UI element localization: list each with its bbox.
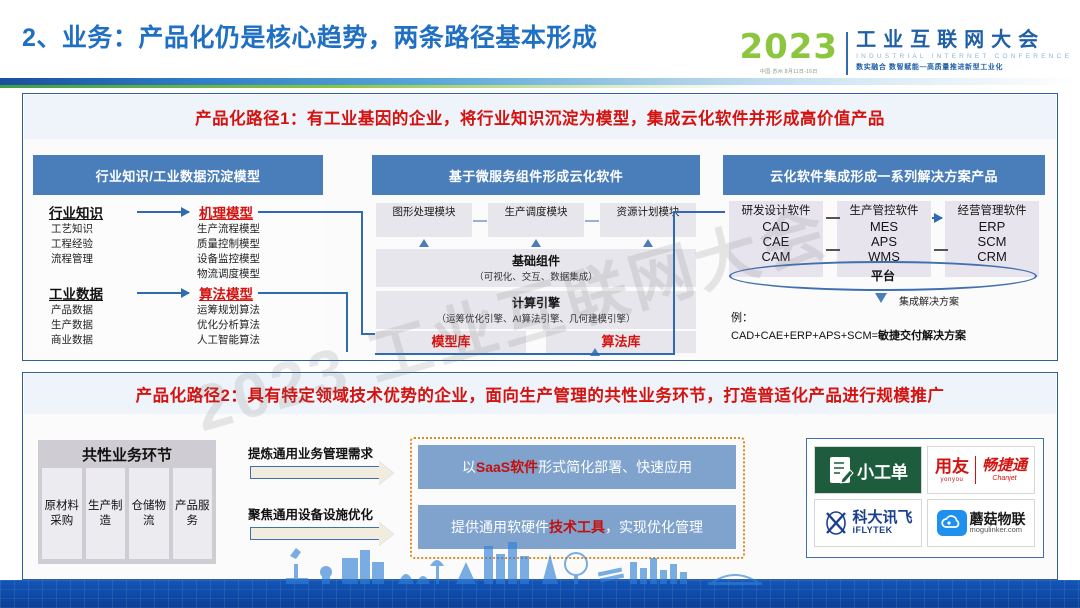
logo-chinese-name: 工业互联网大会 [856,30,1072,51]
industry-data-label: 工业数据 [49,283,103,303]
link-algo-vertical [346,292,348,352]
message-tools-pre: 提供通用软硬件 [451,518,549,537]
vendor-logo-chanjet-label: 畅捷通 [982,458,1027,473]
logo-year-subtitle: 中国·苏州 8月11日-16日 [739,68,838,75]
path2-heading-bar: 产品化路径2：具有特定领域技术优势的企业，面向生产管理的共性业务环节，打造普适化… [24,374,1056,414]
vendor-logo-divider [975,456,976,484]
mechanism-model-items: 生产流程模型 质量控制模型 设备监控模型 物流调度模型 [197,222,260,282]
common-business-links-box: 共性业务环节 原材料采购 生产制造 仓储物流 产品服务 [38,440,216,564]
arrow-data-to-algo [137,292,189,294]
software-mfg-item-1: MES [837,219,931,234]
algorithm-model-items: 运筹规划算法 优化分析算法 人工智能算法 [197,303,260,348]
slide: 2、业务：产品化仍是核心趋势，两条路径基本形成 2023 中国·苏州 8月11日… [0,0,1080,608]
algorithm-model-label: 算法模型 [199,283,253,303]
col1-body: 行业知识 工艺知识 工程经验 流程管理 机理模型 生产流程模型 质量控制模型 设… [33,200,323,352]
vendor-logo-yonyou-sub: yonyou [935,477,969,483]
common-business-links-title: 共性业务环节 [38,440,216,465]
vendor-logo-grid: 小工单 用友 yonyou 畅捷通 Chanjet [807,439,1043,554]
platform-label: 平台 [723,267,1043,284]
module-link-2 [585,220,599,222]
industry-data-items: 产品数据 生产数据 商业数据 [51,303,93,348]
path1-heading-bar: 产品化路径1：有工业基因的企业，将行业知识沉淀为模型，集成云化软件并形成高价值产… [24,95,1056,139]
vendor-logo-mogulinker-label: 蘑菇物联 [970,512,1026,527]
compute-engine-band: 计算引擎 （运筹优化引擎、AI算法引擎、几何建模引擎） [376,291,696,329]
message-saas-post: 形式简化部署、快速应用 [538,458,692,477]
software-rd-item-2: CAE [729,234,823,249]
integration-note: 集成解决方案 [899,293,959,308]
vendor-logo-mogulinker-sub: mogulinker.com [970,526,1026,534]
sw-arrow-1 [932,217,942,219]
link-col2-to-col3 [673,211,725,213]
biz-cell-logistics: 仓储物流 [129,468,169,559]
software-biz-item-3: CRM [945,249,1039,264]
vendor-logo-yonyou-label: 用友 [935,458,969,475]
step-arrow-1 [250,466,380,479]
col2-header: 基于微服务组件形成云化软件 [372,155,700,195]
logo-divider [846,32,848,75]
common-business-links-cells: 原材料采购 生产制造 仓储物流 产品服务 [38,465,216,563]
sw-dash-3 [934,249,948,251]
message-tools-bold: 技术工具 [549,518,605,537]
biz-cell-manufacturing: 生产制造 [86,468,126,559]
arrow-up-module-3 [643,239,653,247]
path2-heading: 产品化路径2：具有特定领域技术优势的企业，面向生产管理的共性业务环节，打造普适化… [136,382,945,406]
conference-logo: 2023 中国·苏州 8月11日-16日 工业互联网大会 INDUSTRIAL … [739,30,1072,75]
mechanism-model-label: 机理模型 [199,202,253,222]
module-production-scheduling: 生产调度模块 [488,203,584,237]
city-skyline-decoration [280,536,800,586]
module-link-1 [473,220,487,222]
col2-body: 图形处理模块 生产调度模块 资源计划模块 基础组件 （可视化、交互、数据集成） … [372,199,700,352]
message-saas-bold: SaaS软件 [476,458,538,477]
industry-knowledge-label: 行业知识 [49,202,103,222]
vendor-logo-xiaogongdan-label: 小工单 [857,458,908,483]
example-label: 例： [731,309,753,325]
vendor-logo-xiaogongdan: 小工单 [814,446,922,494]
software-rd-item-1: CAD [729,219,823,234]
industry-knowledge-items: 工艺知识 工程经验 流程管理 [51,222,93,267]
col1-header: 行业知识/工业数据沉淀模型 [33,155,323,195]
link-col2-to-col3-vertical [673,211,675,354]
example-line: CAD+CAE+ERP+APS+SCM=敏捷交付解决方案 [731,327,966,343]
vendor-logo-iflytek-label: 科大讯飞 [852,510,912,526]
example-text: CAD+CAE+ERP+APS+SCM= [731,330,878,342]
header-rule-blue [0,78,1080,85]
vendor-logo-yonyou-chanjet: 用友 yonyou 畅捷通 Chanjet [927,446,1035,494]
header-rule-green [0,85,760,88]
compute-engine-title: 计算引擎 [376,294,696,311]
software-group-rd-title: 研发设计软件 [729,204,823,219]
step-label-1: 提炼通用业务管理需求 [248,443,373,462]
vendor-logo-chanjet-sub: Chanjet [982,475,1027,482]
page-title: 2、业务：产品化仍是核心趋势，两条路径基本形成 [22,18,597,54]
software-rd-item-3: CAM [729,249,823,264]
compute-engine-sub: （运筹优化引擎、AI算法引擎、几何建模引擎） [376,311,696,325]
mogulinker-cloud-icon [937,508,967,538]
path1-heading: 产品化路径1：有工业基因的企业，将行业知识沉淀为模型，集成云化软件并形成高价值产… [195,105,885,129]
col3-body: 研发设计软件 CAD CAE CAM 生产管控软件 MES APS WMS 经营… [723,199,1045,352]
software-mfg-item-2: APS [837,234,931,249]
vendor-logo-iflytek-sub: iFLYTEK [852,526,912,535]
base-components-band: 基础组件 （可视化、交互、数据集成） [376,249,696,287]
module-resource-planning: 资源计划模块 [600,203,696,237]
col3-header: 云化软件集成形成一系列解决方案产品 [723,155,1045,195]
message-saas-pre: 以 [462,458,476,477]
link-mechanism-vertical [361,211,363,333]
module-graphics: 图形处理模块 [376,203,472,237]
arrow-down-integration [875,293,887,303]
software-group-mfg-title: 生产管控软件 [837,204,931,219]
example-bold: 敏捷交付解决方案 [878,330,966,342]
biz-cell-product-service: 产品服务 [173,468,213,559]
logo-english-name: INDUSTRIAL INTERNET CONFERENCE [856,53,1072,60]
base-components-title: 基础组件 [376,252,696,269]
arrow-up-module-2 [531,239,541,247]
link-algo-to-algolib [258,292,348,294]
arrow-knowledge-to-model [137,211,189,213]
logo-slogan: 数实融合 数智赋能—高质量推进新型工业化 [856,62,1072,72]
iflytek-icon [823,509,849,537]
sw-dash-2 [826,249,840,251]
vendor-logo-mogulinker: 蘑菇物联 mogulinker.com [927,499,1035,547]
vendor-logo-iflytek: 科大讯飞 iFLYTEK [814,499,922,547]
arrow-up-module-1 [419,239,429,247]
message-saas: 以SaaS软件形式简化部署、快速应用 [418,445,736,489]
software-biz-item-2: SCM [945,234,1039,249]
logo-year: 2023 [739,30,838,64]
biz-cell-procurement: 原材料采购 [42,468,82,559]
lib-baseline [375,353,675,355]
link-mechanism-to-modellib [258,211,363,213]
vendor-logo-panel: 小工单 用友 yonyou 畅捷通 Chanjet [806,438,1044,558]
xiaogongdan-icon [828,455,854,485]
base-components-sub: （可视化、交互、数据集成） [376,269,696,283]
sw-dash-1 [826,217,840,219]
model-library: 模型库 [376,331,526,353]
step-label-2: 聚焦通用设备设施优化 [248,504,373,523]
message-tools-post: ，实现优化管理 [605,518,703,537]
software-group-biz-title: 经营管理软件 [945,204,1039,219]
software-biz-item-1: ERP [945,219,1039,234]
